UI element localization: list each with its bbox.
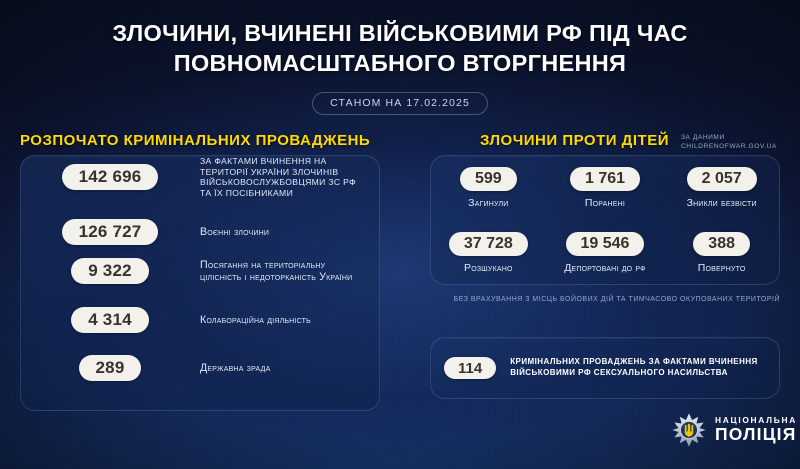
- logo-line-1: Національна: [715, 416, 797, 424]
- logo-wordmark: Національна Поліція: [715, 416, 797, 444]
- children-stat-value: 388: [693, 232, 750, 256]
- proceedings-label: Посягання на територіальну цілісність і …: [200, 259, 380, 284]
- police-star-badge-trident-icon: [672, 413, 706, 447]
- children-stats-footnote: Без врахування з місць бойових дій та ти…: [430, 295, 780, 305]
- sexual-violence-label: Кримінальних проваджень за фактами вчине…: [510, 357, 766, 378]
- proceedings-value: 142 696: [62, 164, 159, 190]
- section-heading-crimes-against-children: Злочини проти дітей: [480, 132, 669, 149]
- proceedings-value-cell: 142 696: [20, 164, 200, 190]
- proceedings-value-cell: 289: [20, 355, 200, 381]
- section-heading-criminal-proceedings: Розпочато кримінальних проваджень: [20, 132, 370, 149]
- sexual-violence-value: 114: [444, 357, 496, 379]
- proceedings-row: 9 322Посягання на територіальну цілісніс…: [20, 258, 380, 284]
- children-stat-label: Депортовані до рф: [564, 262, 645, 274]
- children-stat-cell: 1 761Поранені: [570, 167, 640, 209]
- header: Злочини, вчинені військовими рф під час …: [0, 18, 800, 115]
- page-title-line-2: повномасштабного вторгнення: [0, 48, 800, 78]
- page-title-line-1: Злочини, вчинені військовими рф під час: [0, 18, 800, 48]
- proceedings-label: Воєнні злочини: [200, 226, 281, 238]
- logo-line-2: Поліція: [715, 426, 797, 444]
- children-stat-label: Загинули: [460, 197, 517, 209]
- children-stat-cell: 2 057Зникли безвісти: [687, 167, 757, 209]
- children-stat-label: Поранені: [570, 197, 640, 209]
- children-stat-cell: 37 728Розшукано: [449, 232, 528, 274]
- children-stat-value: 599: [460, 167, 517, 191]
- proceedings-value: 126 727: [62, 219, 159, 245]
- children-stat-label: Зникли безвісти: [687, 197, 757, 209]
- children-stat-cell: 388Повернуто: [693, 232, 750, 274]
- criminal-proceedings-list: 142 696За фактами вчинення на території …: [20, 155, 380, 411]
- proceedings-value: 4 314: [71, 307, 149, 333]
- proceedings-value-cell: 9 322: [20, 258, 200, 284]
- national-police-logo: Національна Поліція: [672, 413, 797, 447]
- proceedings-row: 4 314Колабораційна діяльність: [20, 307, 380, 333]
- proceedings-value: 289: [79, 355, 142, 381]
- children-stat-value: 1 761: [570, 167, 640, 191]
- infographic-page: Злочини, вчинені військовими рф під час …: [0, 0, 800, 469]
- proceedings-row: 126 727Воєнні злочини: [20, 219, 380, 245]
- children-stat-value: 2 057: [687, 167, 757, 191]
- children-stats-grid: 599Загинули1 761Поранені2 057Зникли безв…: [430, 155, 780, 285]
- proceedings-value-cell: 4 314: [20, 307, 200, 333]
- data-source-note: За даними childrenofwar.gov.ua: [681, 133, 800, 151]
- proceedings-row: 289Державна зрада: [20, 355, 380, 381]
- sexual-violence-row: 114 Кримінальних проваджень за фактами в…: [430, 337, 780, 399]
- children-stat-value: 37 728: [449, 232, 528, 256]
- proceedings-label: Колабораційна діяльність: [200, 314, 323, 326]
- children-stat-value: 19 546: [566, 232, 645, 256]
- proceedings-value-cell: 126 727: [20, 219, 200, 245]
- children-stat-cell: 599Загинули: [460, 167, 517, 209]
- proceedings-value: 9 322: [71, 258, 149, 284]
- children-stat-label: Повернуто: [693, 262, 750, 274]
- children-stat-label: Розшукано: [449, 262, 528, 274]
- date-badge: Станом на 17.02.2025: [312, 92, 488, 115]
- children-stat-cell: 19 546Депортовані до рф: [564, 232, 645, 274]
- proceedings-row: 142 696За фактами вчинення на території …: [20, 156, 380, 198]
- proceedings-label: Державна зрада: [200, 362, 282, 374]
- proceedings-label: За фактами вчинення на території України…: [200, 156, 380, 198]
